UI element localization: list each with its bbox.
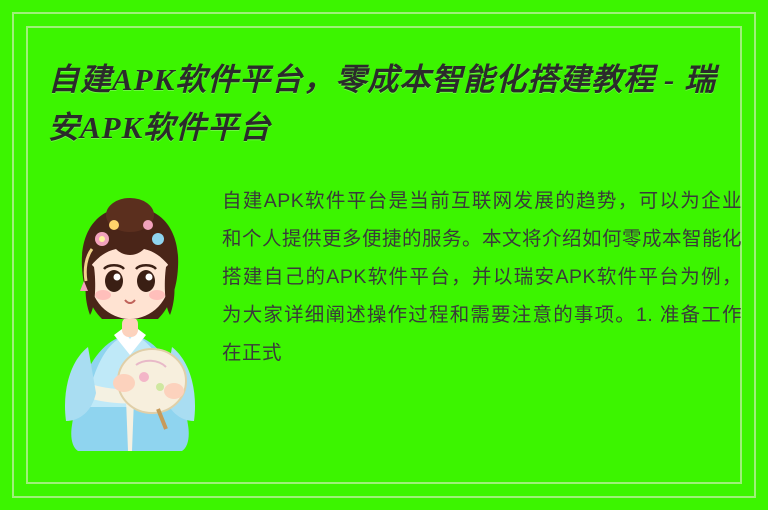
poster-canvas: 自建APK软件平台，零成本智能化搭建教程 - 瑞安APK软件平台 [0,0,768,510]
page-title: 自建APK软件平台，零成本智能化搭建教程 - 瑞安APK软件平台 [48,56,738,152]
chinese-hanfu-girl-illustration [40,185,220,465]
body-paragraph: 自建APK软件平台是当前互联网发展的趋势，可以为企业和个人提供更多便捷的服务。本… [222,182,742,372]
